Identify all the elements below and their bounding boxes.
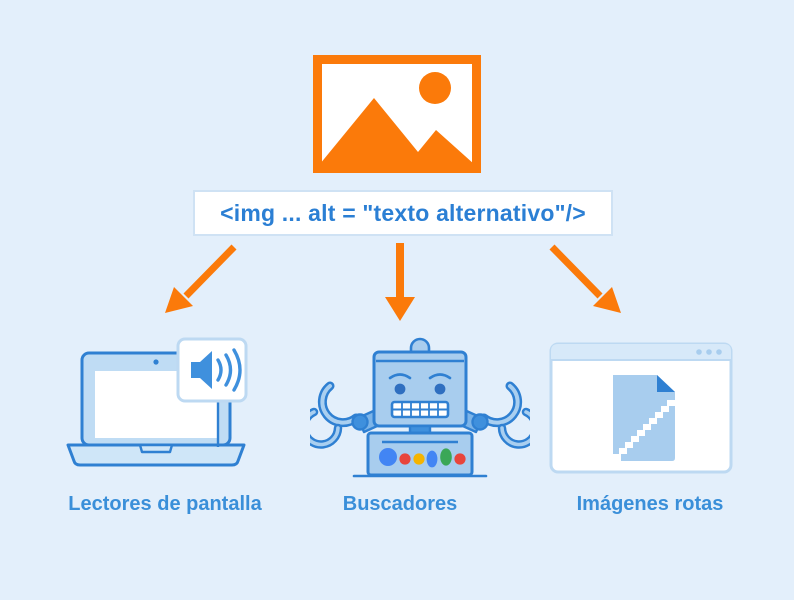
infographic-canvas: <img ... alt = "texto alternativo"/> [0,0,794,600]
broken-image-browser-icon [545,338,765,488]
browser-dot-1 [696,349,702,355]
laptop-speaker-icon [60,335,280,485]
caption-screen-readers: Lectores de pantalla [40,493,290,516]
robot-dot-yellow [413,453,424,464]
broken-image-glyph [545,338,745,478]
image-placeholder-icon [313,55,481,173]
browser-dot-2 [706,349,712,355]
caption-search-engines: Buscadores [300,493,500,516]
caption-broken-images: Imágenes rotas [530,493,770,516]
arrow-to-screen-readers [160,243,240,318]
laptop-speaker-glyph [60,335,280,485]
arrow-to-broken-images [546,243,626,318]
robot-icon [310,330,530,480]
browser-dot-3 [716,349,722,355]
image-placeholder-glyph [322,64,472,164]
robot-dot-blue-small [427,451,438,468]
robot-dot-blue-large [379,448,397,466]
robot-dot-red-2 [454,453,465,464]
robot-dot-green [440,448,452,465]
code-snippet-text: <img ... alt = "texto alternativo"/> [220,200,586,227]
robot-glyph [310,330,530,480]
code-snippet-box: <img ... alt = "texto alternativo"/> [193,190,613,236]
robot-dot-red-1 [399,453,410,464]
arrow-to-search-engines [380,243,420,321]
